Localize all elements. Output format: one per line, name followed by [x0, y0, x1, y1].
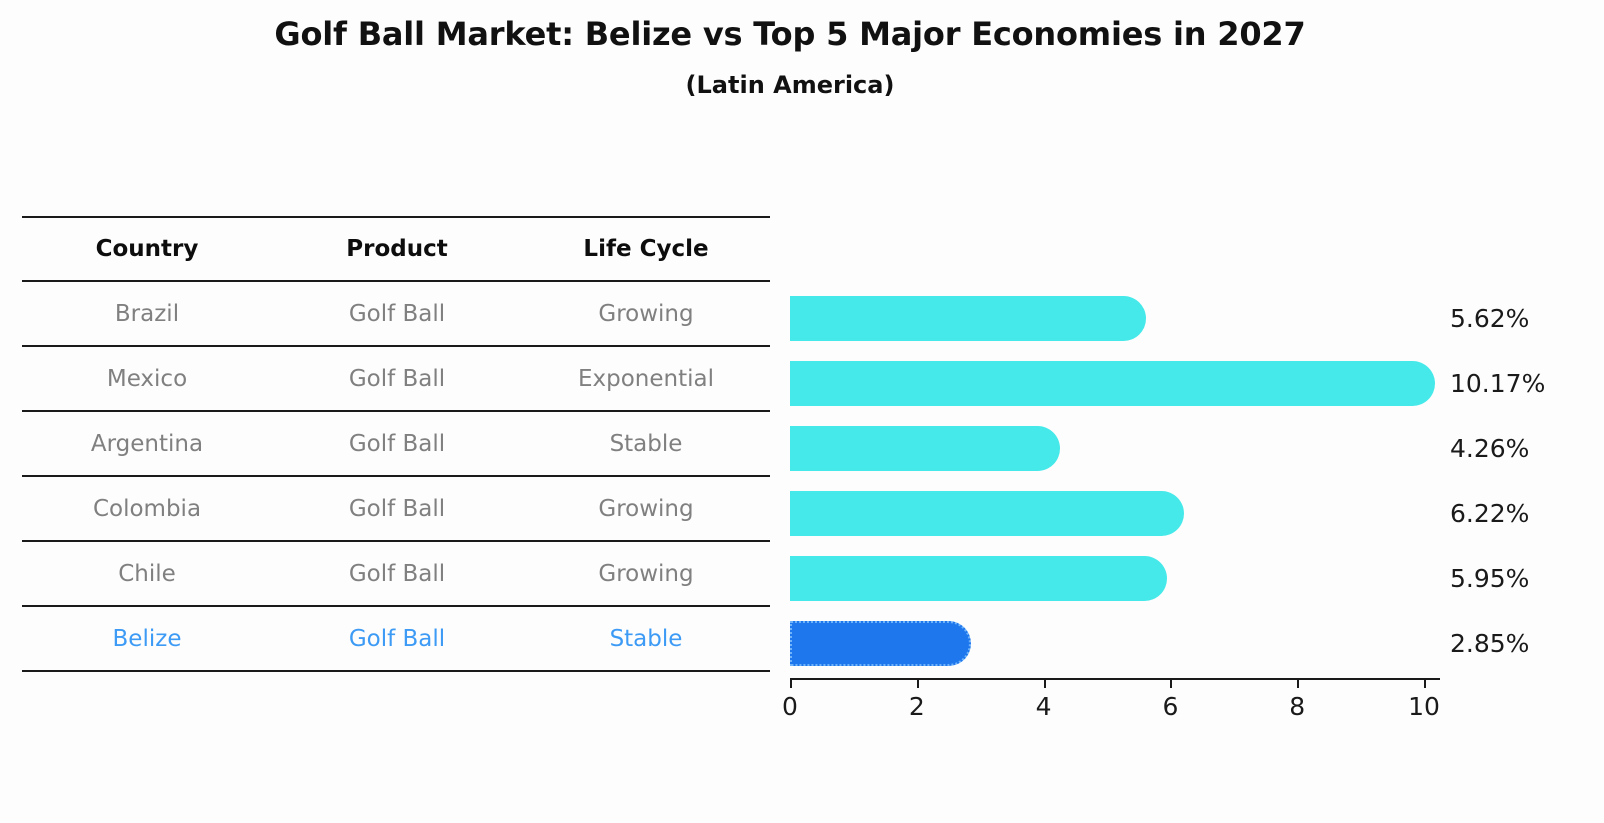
- cell-product: Golf Ball: [272, 626, 522, 652]
- x-axis-tick: [917, 678, 919, 688]
- x-axis: 0246810: [790, 678, 1440, 738]
- bar-row: 5.62%: [790, 286, 1490, 351]
- bar-chile[interactable]: [790, 556, 1167, 601]
- title-block: Golf Ball Market: Belize vs Top 5 Major …: [0, 14, 1580, 102]
- bar-colombia[interactable]: [790, 491, 1184, 536]
- bar-row: 5.95%: [790, 546, 1490, 611]
- table-row[interactable]: Mexico Golf Ball Exponential: [22, 347, 770, 410]
- table-row[interactable]: Brazil Golf Ball Growing: [22, 282, 770, 345]
- x-axis-tick: [790, 678, 792, 688]
- bar-mexico[interactable]: [790, 361, 1435, 406]
- cell-life-cycle: Exponential: [522, 366, 770, 392]
- bar-value-label: 5.95%: [1450, 556, 1529, 601]
- x-axis-line: [790, 678, 1440, 680]
- cell-life-cycle: Growing: [522, 301, 770, 327]
- cell-life-cycle: Growing: [522, 496, 770, 522]
- table-bottom-rule: [22, 670, 770, 672]
- table-row[interactable]: Argentina Golf Ball Stable: [22, 412, 770, 475]
- cell-product: Golf Ball: [272, 496, 522, 522]
- x-axis-tick: [1044, 678, 1046, 688]
- x-axis-tick-label: 2: [909, 692, 925, 721]
- cell-country: Belize: [22, 626, 272, 652]
- table-row[interactable]: Chile Golf Ball Growing: [22, 542, 770, 605]
- cell-country: Mexico: [22, 366, 272, 392]
- cell-life-cycle: Growing: [522, 561, 770, 587]
- bar-row: 10.17%: [790, 351, 1490, 416]
- bar-value-label: 4.26%: [1450, 426, 1529, 471]
- table-row[interactable]: Colombia Golf Ball Growing: [22, 477, 770, 540]
- bar-value-label: 6.22%: [1450, 491, 1529, 536]
- column-header-life-cycle: Life Cycle: [522, 236, 770, 262]
- x-axis-tick-label: 4: [1036, 692, 1052, 721]
- bar-row: 4.26%: [790, 416, 1490, 481]
- table-row-highlighted[interactable]: Belize Golf Ball Stable: [22, 607, 770, 670]
- chart-subtitle: (Latin America): [0, 68, 1580, 102]
- x-axis-tick: [1170, 678, 1172, 688]
- x-axis-tick-label: 0: [782, 692, 798, 721]
- bar-brazil[interactable]: [790, 296, 1146, 341]
- cell-product: Golf Ball: [272, 561, 522, 587]
- bar-belize[interactable]: [790, 621, 971, 666]
- cell-life-cycle: Stable: [522, 431, 770, 457]
- bar-value-label: 5.62%: [1450, 296, 1529, 341]
- bar-chart-plot-area: 5.62% 10.17% 4.26% 6.22% 5.95% 2.85%: [790, 286, 1490, 678]
- column-header-product: Product: [272, 236, 522, 262]
- bar-row: 2.85%: [790, 611, 1490, 676]
- cell-country: Chile: [22, 561, 272, 587]
- cell-life-cycle: Stable: [522, 626, 770, 652]
- table-header-row: Country Product Life Cycle: [22, 218, 770, 280]
- x-axis-tick-label: 8: [1289, 692, 1305, 721]
- cell-product: Golf Ball: [272, 366, 522, 392]
- cell-country: Argentina: [22, 431, 272, 457]
- x-axis-tick-label: 10: [1408, 692, 1440, 721]
- bar-value-label: 10.17%: [1450, 361, 1545, 406]
- bar-argentina[interactable]: [790, 426, 1060, 471]
- bar-row: 6.22%: [790, 481, 1490, 546]
- column-header-country: Country: [22, 236, 272, 262]
- country-table: Country Product Life Cycle Brazil Golf B…: [22, 216, 770, 672]
- cell-country: Colombia: [22, 496, 272, 522]
- x-axis-tick: [1297, 678, 1299, 688]
- cell-country: Brazil: [22, 301, 272, 327]
- bar-value-label: 2.85%: [1450, 621, 1529, 666]
- cell-product: Golf Ball: [272, 431, 522, 457]
- cell-product: Golf Ball: [272, 301, 522, 327]
- chart-title: Golf Ball Market: Belize vs Top 5 Major …: [0, 14, 1580, 54]
- x-axis-tick-label: 6: [1162, 692, 1178, 721]
- x-axis-tick: [1424, 678, 1426, 688]
